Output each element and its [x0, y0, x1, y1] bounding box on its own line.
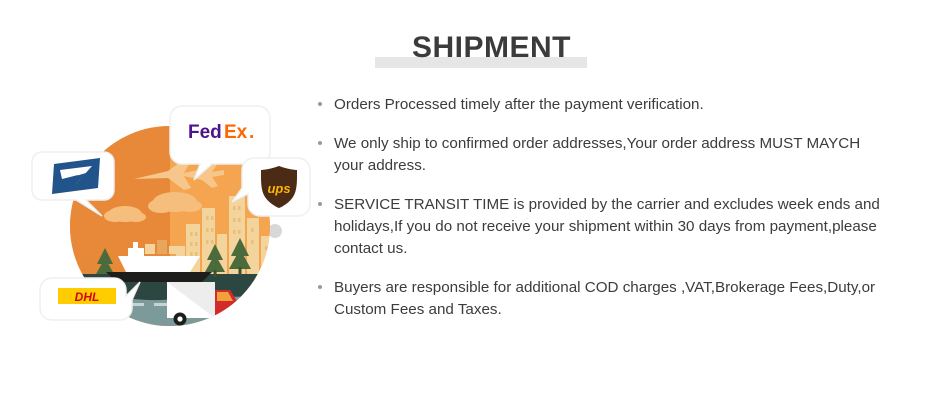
policy-list: Orders Processed timely after the paymen…: [318, 94, 898, 321]
fedex-ex-text: Ex: [224, 122, 248, 143]
list-item-text: We only ship to confirmed order addresse…: [334, 135, 860, 174]
fedex-logo-icon: Fed Ex .: [188, 122, 254, 143]
bullet-dot-icon: [318, 285, 322, 289]
page-title-wrapper: SHIPMENT: [370, 24, 898, 80]
shipment-content: SHIPMENT Orders Processed timely after t…: [318, 24, 898, 374]
ups-logo-text: ups: [267, 181, 290, 196]
usps-logo-icon: [52, 158, 100, 194]
list-item-text: SERVICE TRANSIT TIME is provided by the …: [334, 196, 880, 257]
list-item-text: Orders Processed timely after the paymen…: [334, 96, 704, 113]
list-item: We only ship to confirmed order addresse…: [318, 133, 890, 177]
shipment-info-page: Fed Ex . ups DHL: [0, 0, 932, 400]
fedex-dot-text: .: [249, 122, 254, 143]
bullet-dot-icon: [318, 141, 322, 145]
dhl-logo-icon: DHL: [58, 288, 116, 304]
shipping-illustration: Fed Ex . ups DHL: [30, 96, 320, 356]
list-item-text: Buyers are responsible for additional CO…: [334, 279, 875, 318]
bullet-dot-icon: [318, 202, 322, 206]
page-title: SHIPMENT: [370, 24, 571, 72]
list-item: Buyers are responsible for additional CO…: [318, 277, 890, 321]
list-item: SERVICE TRANSIT TIME is provided by the …: [318, 194, 890, 260]
dhl-logo-text: DHL: [75, 290, 100, 304]
bullet-dot-icon: [318, 102, 322, 106]
carrier-bubble-dhl: DHL: [40, 278, 140, 320]
list-item: Orders Processed timely after the paymen…: [318, 94, 890, 116]
fedex-fed-text: Fed: [188, 122, 222, 143]
